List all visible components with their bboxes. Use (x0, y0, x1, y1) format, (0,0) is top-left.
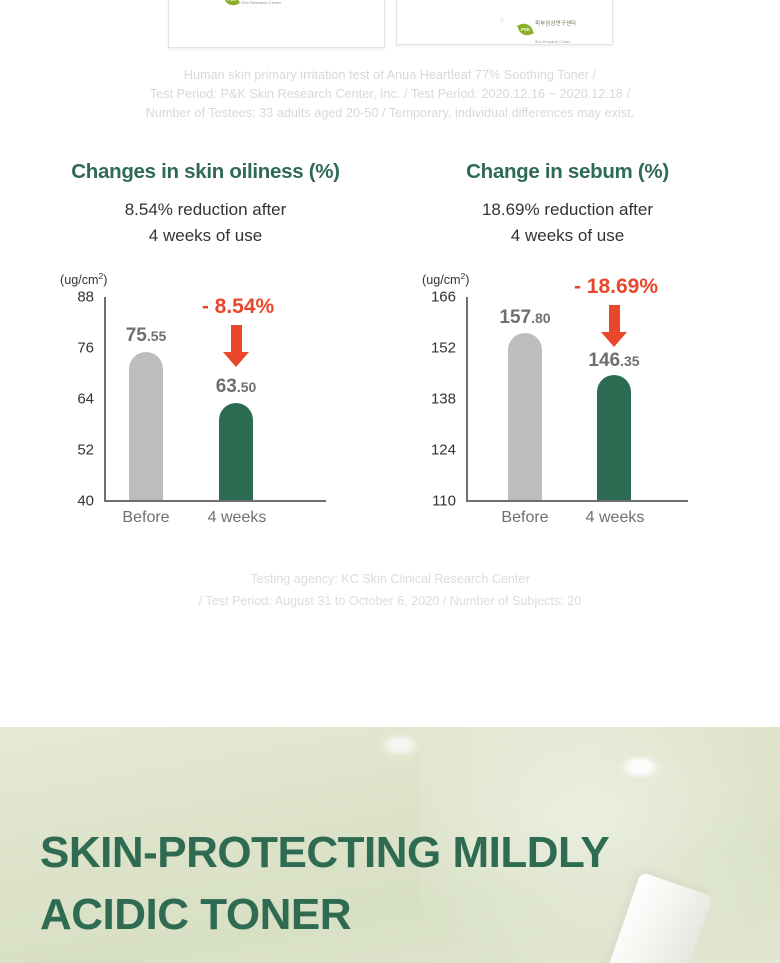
promo-banner: SKIN-PROTECTING MILDLY ACIDIC TONER (0, 727, 780, 963)
footer-caption: Testing agency: KC Skin Clinical Researc… (0, 568, 780, 612)
banner-headline: SKIN-PROTECTING MILDLY ACIDIC TONER (40, 822, 740, 946)
chart-plot-area: (ug/cm2) 166 152 138 124 110 157.80 146.… (390, 271, 745, 539)
bar-value-before: 157.80 (499, 307, 550, 329)
chart-subtitle-line-1: 18.69% reduction after (390, 197, 745, 223)
x-category-label: 4 weeks (208, 509, 267, 527)
chart-subtitle: 18.69% reduction after 4 weeks of use (390, 197, 745, 249)
certificate-strip: 피부임상연구센타 Skin Research Center 인 피부임상연구센타… (0, 0, 780, 56)
y-axis-ticks: 166 152 138 124 110 (390, 297, 462, 501)
bar-after (219, 403, 253, 500)
study-caption-line-3: Number of Testees: 33 adults aged 20-50 … (0, 104, 780, 123)
chart-sebum: Change in sebum (%) 18.69% reduction aft… (390, 160, 745, 539)
down-arrow-icon (601, 305, 627, 347)
y-tick: 152 (396, 340, 456, 357)
chart-plot-area: (ug/cm2) 88 76 64 52 40 75.55 63.50 - 8.… (28, 271, 383, 539)
chart-title: Change in sebum (%) (390, 160, 745, 184)
y-tick: 110 (396, 493, 456, 510)
y-tick: 124 (396, 442, 456, 459)
seal-stamp-icon: 인 (500, 17, 504, 23)
y-axis-unit-label: (ug/cm2) (60, 271, 107, 287)
x-category-label: Before (122, 509, 169, 527)
y-tick: 166 (396, 289, 456, 306)
chart-skin-oiliness: Changes in skin oiliness (%) 8.54% reduc… (28, 160, 383, 539)
psk-logo: 피부임상연구센타 Skin Research Center (225, 0, 281, 9)
chart-subtitle-line-2: 4 weeks of use (28, 223, 383, 249)
leaf-icon (517, 22, 534, 39)
footer-caption-line-1: Testing agency: KC Skin Clinical Researc… (0, 568, 780, 590)
bar-value-before: 75.55 (126, 325, 167, 347)
bar-value-after: 146.35 (588, 350, 639, 372)
y-tick: 64 (34, 391, 94, 408)
bar-value-after: 63.50 (216, 376, 257, 398)
psk-certificate-left: 피부임상연구센타 Skin Research Center (168, 0, 385, 48)
x-category-label: 4 weeks (586, 509, 645, 527)
reduction-annotation: - 8.54% (202, 295, 274, 319)
chart-subtitle-line-1: 8.54% reduction after (28, 197, 383, 223)
study-caption-line-1: Human skin primary irritation test of An… (0, 66, 780, 85)
bar-before (508, 333, 542, 500)
bar-before (129, 352, 163, 500)
psk-logo-korean-text: 피부임상연구센타 (535, 21, 576, 27)
psk-certificate-right: 인 피부임상연구센타 Skin Research Center (396, 0, 613, 45)
leaf-icon (223, 0, 240, 8)
charts-section: Changes in skin oiliness (%) 8.54% reduc… (0, 160, 780, 570)
y-tick: 40 (34, 493, 94, 510)
footer-caption-line-2: / Test Period: August 31 to October 6, 2… (0, 590, 780, 612)
banner-headline-line-1: SKIN-PROTECTING MILDLY (40, 822, 740, 884)
psk-logo: 피부임상연구센타 Skin Research Center (519, 12, 612, 48)
y-axis-unit-label: (ug/cm2) (422, 271, 469, 287)
chart-subtitle-line-2: 4 weeks of use (390, 223, 745, 249)
study-caption-line-2: Test Period: P&K Skin Research Center, I… (0, 85, 780, 104)
study-caption: Human skin primary irritation test of An… (0, 66, 780, 123)
psk-logo-english-text: Skin Research Center (241, 0, 281, 5)
y-tick: 138 (396, 391, 456, 408)
chart-subtitle: 8.54% reduction after 4 weeks of use (28, 197, 383, 249)
psk-logo-english-text: Skin Research Center (535, 40, 570, 44)
chart-title: Changes in skin oiliness (%) (28, 160, 383, 184)
x-category-label: Before (501, 509, 548, 527)
reduction-annotation: - 18.69% (574, 275, 658, 299)
y-axis-ticks: 88 76 64 52 40 (28, 297, 100, 501)
bar-after (597, 375, 631, 500)
down-arrow-icon (223, 325, 249, 367)
y-tick: 52 (34, 442, 94, 459)
y-tick: 76 (34, 340, 94, 357)
banner-headline-line-2: ACIDIC TONER (40, 884, 740, 946)
y-tick: 88 (34, 289, 94, 306)
